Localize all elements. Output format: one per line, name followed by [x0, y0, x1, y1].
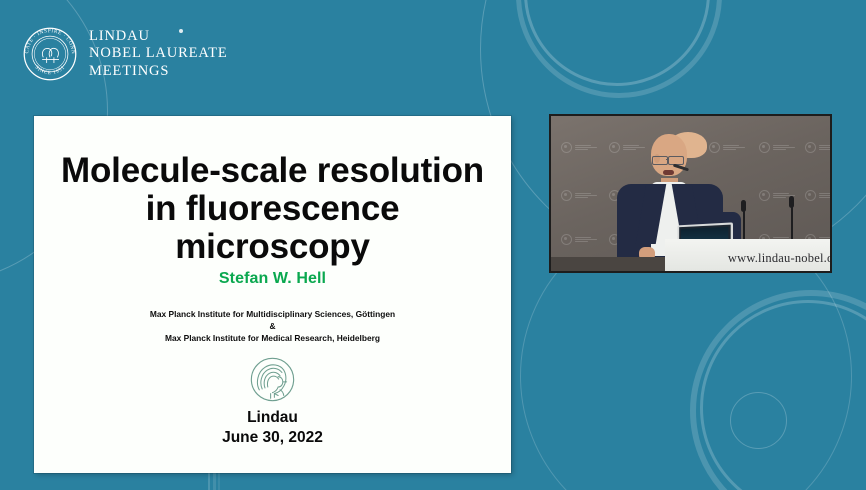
title-slide: Molecule-scale resolution in fluorescenc… [34, 116, 511, 473]
slide-affiliations: Max Planck Institute for Multidisciplina… [34, 309, 511, 345]
affiliation-line-2: Max Planck Institute for Medical Researc… [34, 333, 511, 345]
speaker-glasses-bridge [666, 159, 668, 160]
wordmark-line-2: NOBEL LAUREATE [89, 45, 228, 62]
presentation-stage: EDUCATE · INSPIRE · CONNECT SINCE 1951 L… [0, 0, 866, 490]
deco-ring-top [516, 0, 722, 98]
svg-text:SINCE 1951: SINCE 1951 [34, 65, 67, 77]
lindau-wordmark: LINDAU NOBEL LAUREATE MEETINGS [89, 28, 228, 79]
speaker-mouth [663, 170, 674, 175]
deco-dot [179, 29, 183, 33]
deco-ring-bottom-right-inner [700, 300, 866, 490]
deco-ring-top-inner [524, 0, 710, 86]
wordmark-line-1: LINDAU [89, 28, 228, 45]
slide-author: Stefan W. Hell [34, 270, 511, 288]
lindau-header-logo: EDUCATE · INSPIRE · CONNECT SINCE 1951 L… [22, 26, 228, 82]
max-planck-logo-wrap [34, 356, 511, 403]
deco-stripe-c [218, 472, 220, 490]
deco-ring-bottom-right [690, 290, 866, 490]
slide-place: Lindau [34, 408, 511, 428]
video-watermark-url: www.lindau-nobel.org [728, 251, 832, 266]
deco-stripe-a [208, 472, 210, 490]
microphone-head-left [741, 200, 746, 212]
speaker-glasses-left [652, 156, 668, 165]
slide-title: Molecule-scale resolution in fluorescenc… [34, 152, 511, 265]
wordmark-line-3: MEETINGS [89, 63, 228, 80]
podium: www.lindau-nobel.org [665, 239, 832, 271]
slide-place-date: Lindau June 30, 2022 [34, 408, 511, 448]
lindau-seal-icon: EDUCATE · INSPIRE · CONNECT SINCE 1951 [22, 26, 78, 82]
affiliation-ampersand: & [34, 321, 511, 333]
affiliation-line-1: Max Planck Institute for Multidisciplina… [34, 309, 511, 321]
speaker-video-thumbnail[interactable]: www.lindau-nobel.org [549, 114, 832, 273]
deco-stripe-b [213, 472, 216, 490]
microphone-head-right [789, 196, 794, 208]
max-planck-minerva-icon [249, 356, 296, 403]
slide-date: June 30, 2022 [34, 428, 511, 448]
deco-circle-small-bottom [730, 392, 787, 449]
